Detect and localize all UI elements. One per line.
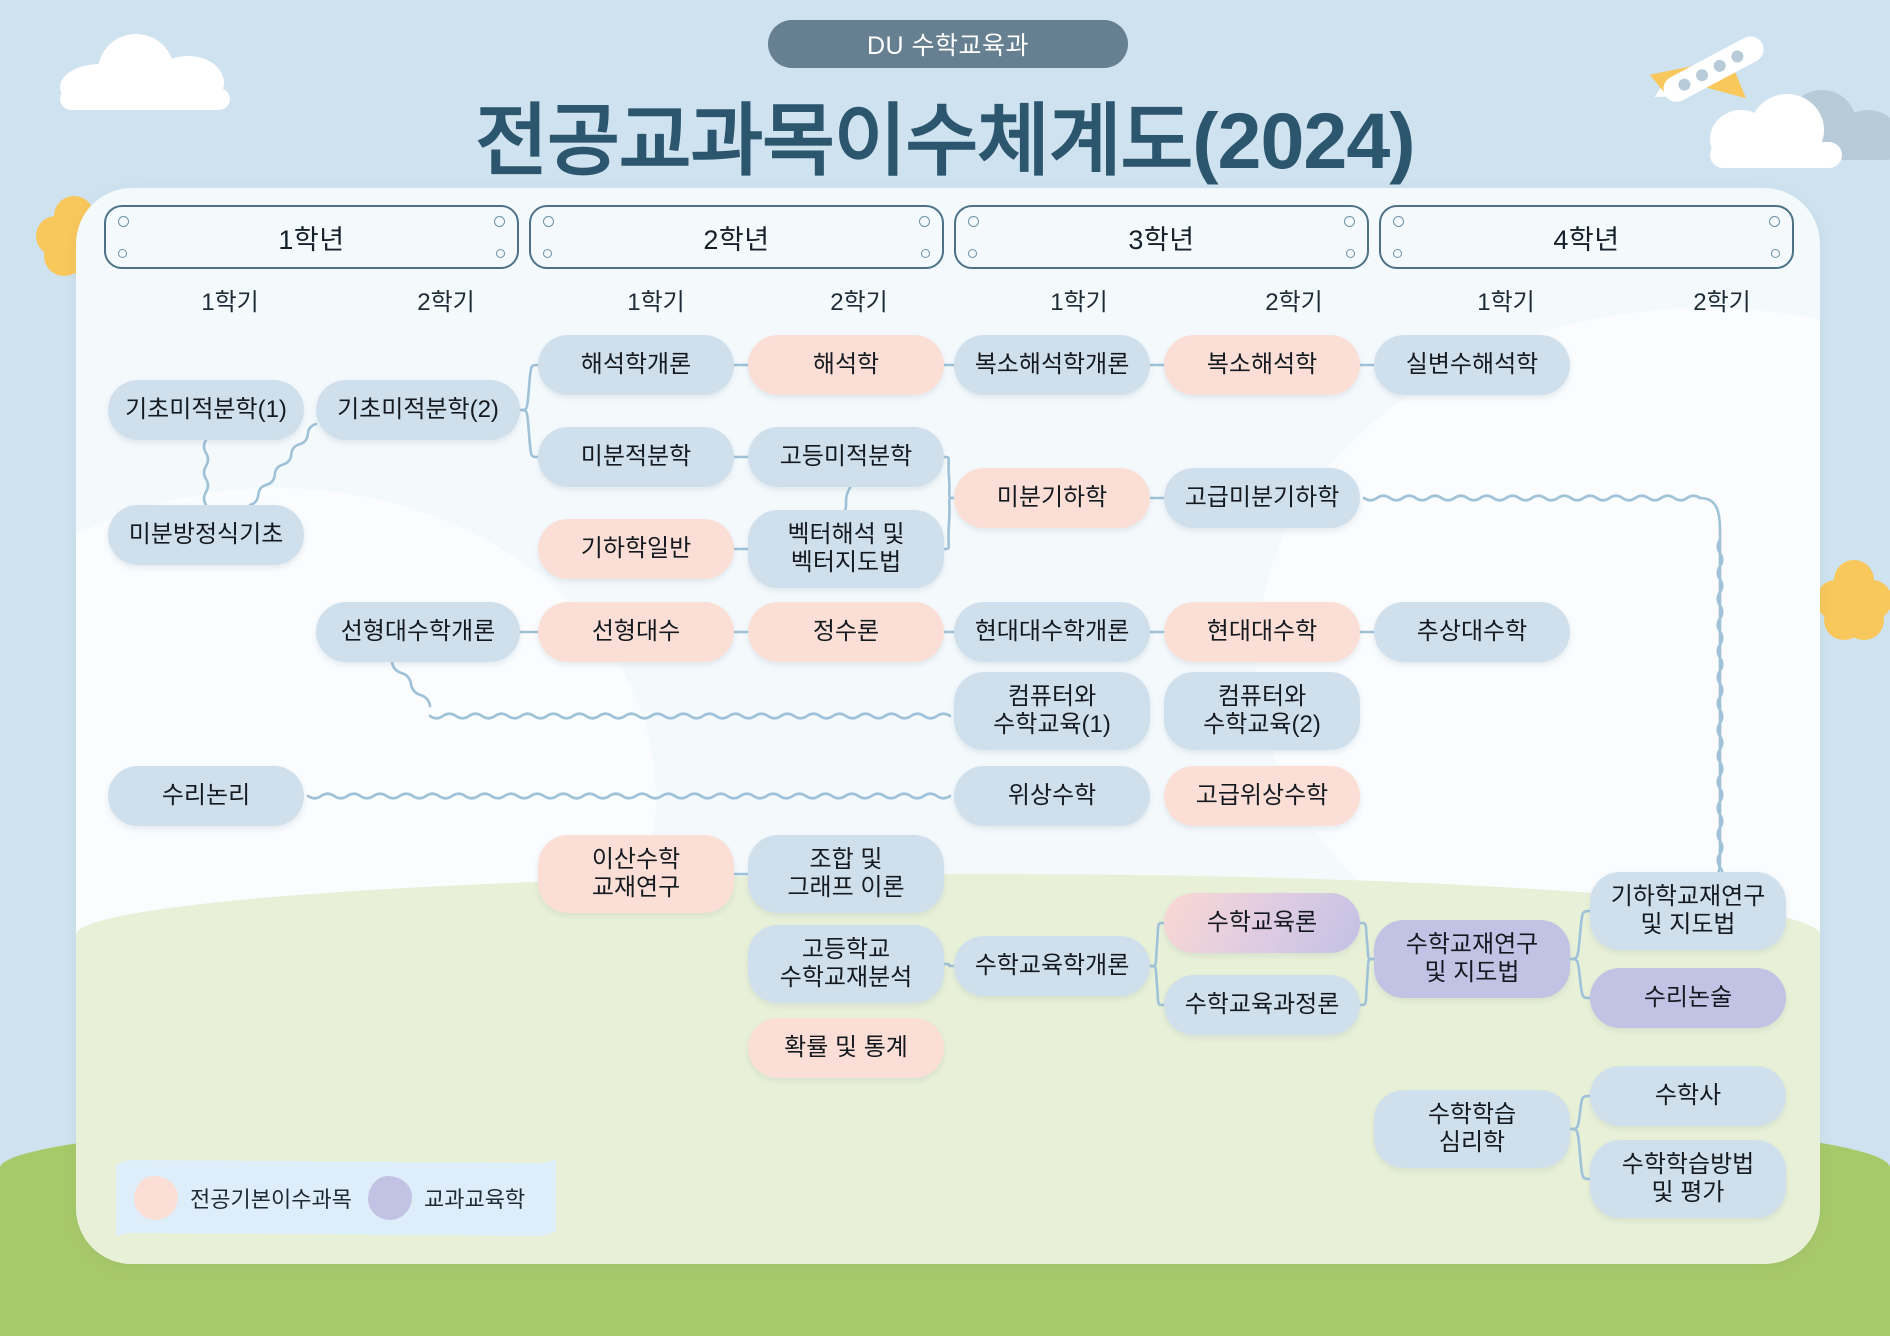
course-node[interactable]: 미분방정식기초: [108, 505, 304, 565]
course-node-label: 고급위상수학: [1196, 782, 1328, 810]
course-node[interactable]: 선형대수학개론: [316, 602, 520, 662]
course-node-label: 컴퓨터와 수학교육(1): [993, 683, 1111, 740]
legend-label: 전공기본이수과목: [190, 1182, 352, 1214]
course-node[interactable]: 수학교육론: [1164, 893, 1360, 953]
course-node[interactable]: 선형대수: [538, 602, 734, 662]
course-node-label: 선형대수학개론: [341, 618, 496, 646]
course-node[interactable]: 복소해석학: [1164, 335, 1360, 395]
legend-label: 교과교육학: [424, 1182, 525, 1214]
course-node[interactable]: 수리논술: [1590, 968, 1786, 1028]
course-node-label: 수리논리: [162, 782, 250, 810]
legend-item-1: 전공기본이수과목: [134, 1176, 352, 1220]
course-node-label: 추상대수학: [1417, 618, 1527, 646]
course-node[interactable]: 고등미적분학: [748, 427, 944, 487]
course-node-label: 선형대수: [592, 618, 680, 646]
year-label: 4학년: [1553, 218, 1619, 257]
semester-label-4: 2학기: [769, 282, 949, 317]
course-node-label: 현대대수학: [1207, 618, 1317, 646]
course-node[interactable]: 컴퓨터와 수학교육(1): [954, 672, 1150, 750]
course-node-label: 수학교육학개론: [975, 952, 1130, 980]
course-node[interactable]: 고급위상수학: [1164, 766, 1360, 826]
course-node-label: 미분적분학: [581, 443, 691, 471]
page-title: 전공교과목이수체계도(2024): [0, 76, 1890, 191]
course-node[interactable]: 수학사: [1590, 1066, 1786, 1126]
course-node[interactable]: 고등학교 수학교재분석: [748, 925, 944, 1003]
course-node-label: 복소해석학개론: [975, 351, 1130, 379]
legend-item-2: 교과교육학: [368, 1176, 525, 1220]
year-header-bar: 1학년2학년3학년4학년: [104, 205, 1794, 269]
course-node[interactable]: 기하학교재연구 및 지도법: [1590, 872, 1786, 950]
year-label: 2학년: [703, 218, 769, 257]
course-node[interactable]: 미분적분학: [538, 427, 734, 487]
course-node[interactable]: 해석학: [748, 335, 944, 395]
course-node-label: 벡터해석 및 벡터지도법: [787, 521, 904, 578]
course-node-label: 컴퓨터와 수학교육(2): [1203, 683, 1321, 740]
semester-label-5: 1학기: [989, 282, 1169, 317]
course-node-label: 실변수해석학: [1406, 351, 1538, 379]
semester-label-2: 2학기: [356, 282, 536, 317]
course-node-label: 수리논술: [1644, 984, 1732, 1012]
year-box-2: 2학년: [529, 205, 944, 269]
course-node[interactable]: 복소해석학개론: [954, 335, 1150, 395]
course-node[interactable]: 확률 및 통계: [748, 1018, 944, 1078]
semester-label-row: 1학기2학기1학기2학기1학기2학기1학기2학기: [104, 282, 1794, 318]
year-label: 1학년: [278, 218, 344, 257]
course-node-label: 기초미적분학(1): [125, 396, 287, 424]
course-node-label: 수학교재연구 및 지도법: [1406, 931, 1538, 988]
course-node[interactable]: 수학학습 심리학: [1374, 1090, 1570, 1168]
year-box-3: 3학년: [954, 205, 1369, 269]
course-node[interactable]: 이산수학 교재연구: [538, 835, 734, 913]
course-node[interactable]: 컴퓨터와 수학교육(2): [1164, 672, 1360, 750]
course-node[interactable]: 벡터해석 및 벡터지도법: [748, 510, 944, 588]
course-node-label: 정수론: [813, 618, 879, 646]
course-node-label: 수학학습방법 및 평가: [1622, 1151, 1754, 1208]
course-node-label: 확률 및 통계: [784, 1034, 908, 1062]
year-box-1: 1학년: [104, 205, 519, 269]
course-node[interactable]: 수학학습방법 및 평가: [1590, 1140, 1786, 1218]
course-node[interactable]: 추상대수학: [1374, 602, 1570, 662]
semester-label-8: 2학기: [1632, 282, 1812, 317]
legend-swatch: [368, 1176, 412, 1220]
course-node-label: 기초미적분학(2): [337, 396, 499, 424]
course-node-label: 기하학교재연구 및 지도법: [1611, 883, 1766, 940]
course-node-label: 고등미적분학: [780, 443, 912, 471]
course-node[interactable]: 현대대수학: [1164, 602, 1360, 662]
course-node-label: 수학교육론: [1207, 909, 1317, 937]
course-node-label: 수학학습 심리학: [1428, 1101, 1516, 1158]
course-node-label: 해석학: [813, 351, 879, 379]
legend: 전공기본이수과목교과교육학: [116, 1160, 556, 1236]
course-node-label: 수학교육과정론: [1185, 991, 1340, 1019]
department-badge: DU 수학교육과: [768, 20, 1128, 68]
year-label: 3학년: [1128, 218, 1194, 257]
course-node[interactable]: 수학교재연구 및 지도법: [1374, 920, 1570, 998]
course-node[interactable]: 해석학개론: [538, 335, 734, 395]
course-node-label: 해석학개론: [581, 351, 691, 379]
semester-label-1: 1학기: [140, 282, 320, 317]
course-node[interactable]: 기초미적분학(2): [316, 380, 520, 440]
course-node-label: 기하학일반: [581, 535, 691, 563]
course-node[interactable]: 수학교육학개론: [954, 936, 1150, 996]
course-node-label: 고급미분기하학: [1185, 484, 1340, 512]
course-node[interactable]: 기하학일반: [538, 519, 734, 579]
legend-swatch: [134, 1176, 178, 1220]
course-node-label: 이산수학 교재연구: [592, 846, 680, 903]
course-node-label: 미분기하학: [997, 484, 1107, 512]
course-node[interactable]: 위상수학: [954, 766, 1150, 826]
course-node[interactable]: 수리논리: [108, 766, 304, 826]
course-node-label: 미분방정식기초: [129, 521, 284, 549]
semester-label-7: 1학기: [1416, 282, 1596, 317]
course-node[interactable]: 수학교육과정론: [1164, 975, 1360, 1035]
semester-label-6: 2학기: [1204, 282, 1384, 317]
department-badge-label: DU 수학교육과: [867, 26, 1029, 62]
course-node[interactable]: 실변수해석학: [1374, 335, 1570, 395]
course-node-label: 복소해석학: [1207, 351, 1317, 379]
course-node[interactable]: 현대대수학개론: [954, 602, 1150, 662]
course-node[interactable]: 미분기하학: [954, 468, 1150, 528]
semester-label-3: 1학기: [566, 282, 746, 317]
course-node[interactable]: 조합 및 그래프 이론: [748, 835, 944, 913]
year-box-4: 4학년: [1379, 205, 1794, 269]
course-node-label: 수학사: [1655, 1082, 1721, 1110]
course-node-label: 조합 및 그래프 이론: [787, 846, 904, 903]
course-node[interactable]: 기초미적분학(1): [108, 380, 304, 440]
course-node-label: 현대대수학개론: [975, 618, 1130, 646]
flower-icon: [1816, 560, 1890, 636]
course-node-label: 고등학교 수학교재분석: [780, 936, 912, 993]
course-node-label: 위상수학: [1008, 782, 1096, 810]
course-node[interactable]: 정수론: [748, 602, 944, 662]
course-node[interactable]: 고급미분기하학: [1164, 468, 1360, 528]
